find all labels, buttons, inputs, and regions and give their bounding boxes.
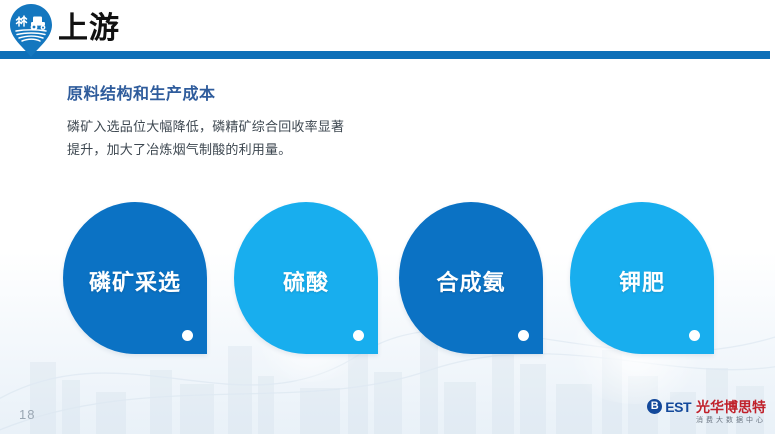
category-drop-label: 硫酸 [283, 265, 329, 297]
category-drop[interactable]: 硫酸 [234, 202, 378, 354]
drop-dot-icon [353, 330, 364, 341]
category-drop-row: 磷矿采选 硫酸 合成氨 钾肥 [0, 202, 775, 354]
drop-dot-icon [518, 330, 529, 341]
corporate-logo-mark: B EST 光华博思特 [647, 399, 766, 414]
logo-cn-text: 光华博思特 [696, 400, 766, 414]
copy-block: 原料结构和生产成本 磷矿入选品位大幅降低，磷精矿综合回收率显著 提升，加大了冶炼… [67, 84, 467, 161]
category-drop-label: 合成氨 [436, 265, 505, 297]
section-body-line-2: 提升，加大了冶炼烟气制酸的利用量。 [67, 138, 467, 161]
category-drop-label: 磷矿采选 [89, 265, 181, 297]
drop-dot-icon [182, 330, 193, 341]
category-drop-label: 钾肥 [619, 265, 665, 297]
location-pin-farm-icon [9, 3, 53, 58]
header-accent-bar [0, 51, 770, 59]
section-body-line-1: 磷矿入选品位大幅降低，磷精矿综合回收率显著 [67, 115, 467, 138]
page-number: 18 [19, 407, 35, 422]
category-drop[interactable]: 磷矿采选 [63, 202, 207, 354]
logo-badge-icon: B [647, 399, 662, 414]
drop-dot-icon [689, 330, 700, 341]
corporate-logo: B EST 光华博思特 消费大数据中心 [647, 399, 766, 424]
category-drop[interactable]: 合成氨 [399, 202, 543, 354]
slide-canvas: 上游 原料结构和生产成本 磷矿入选品位大幅降低，磷精矿综合回收率显著 提升，加大… [0, 0, 775, 434]
logo-est-text: EST [665, 400, 691, 414]
logo-subtitle: 消费大数据中心 [647, 417, 766, 424]
section-heading: 原料结构和生产成本 [67, 84, 467, 106]
page-title: 上游 [58, 9, 120, 49]
category-drop[interactable]: 钾肥 [570, 202, 714, 354]
